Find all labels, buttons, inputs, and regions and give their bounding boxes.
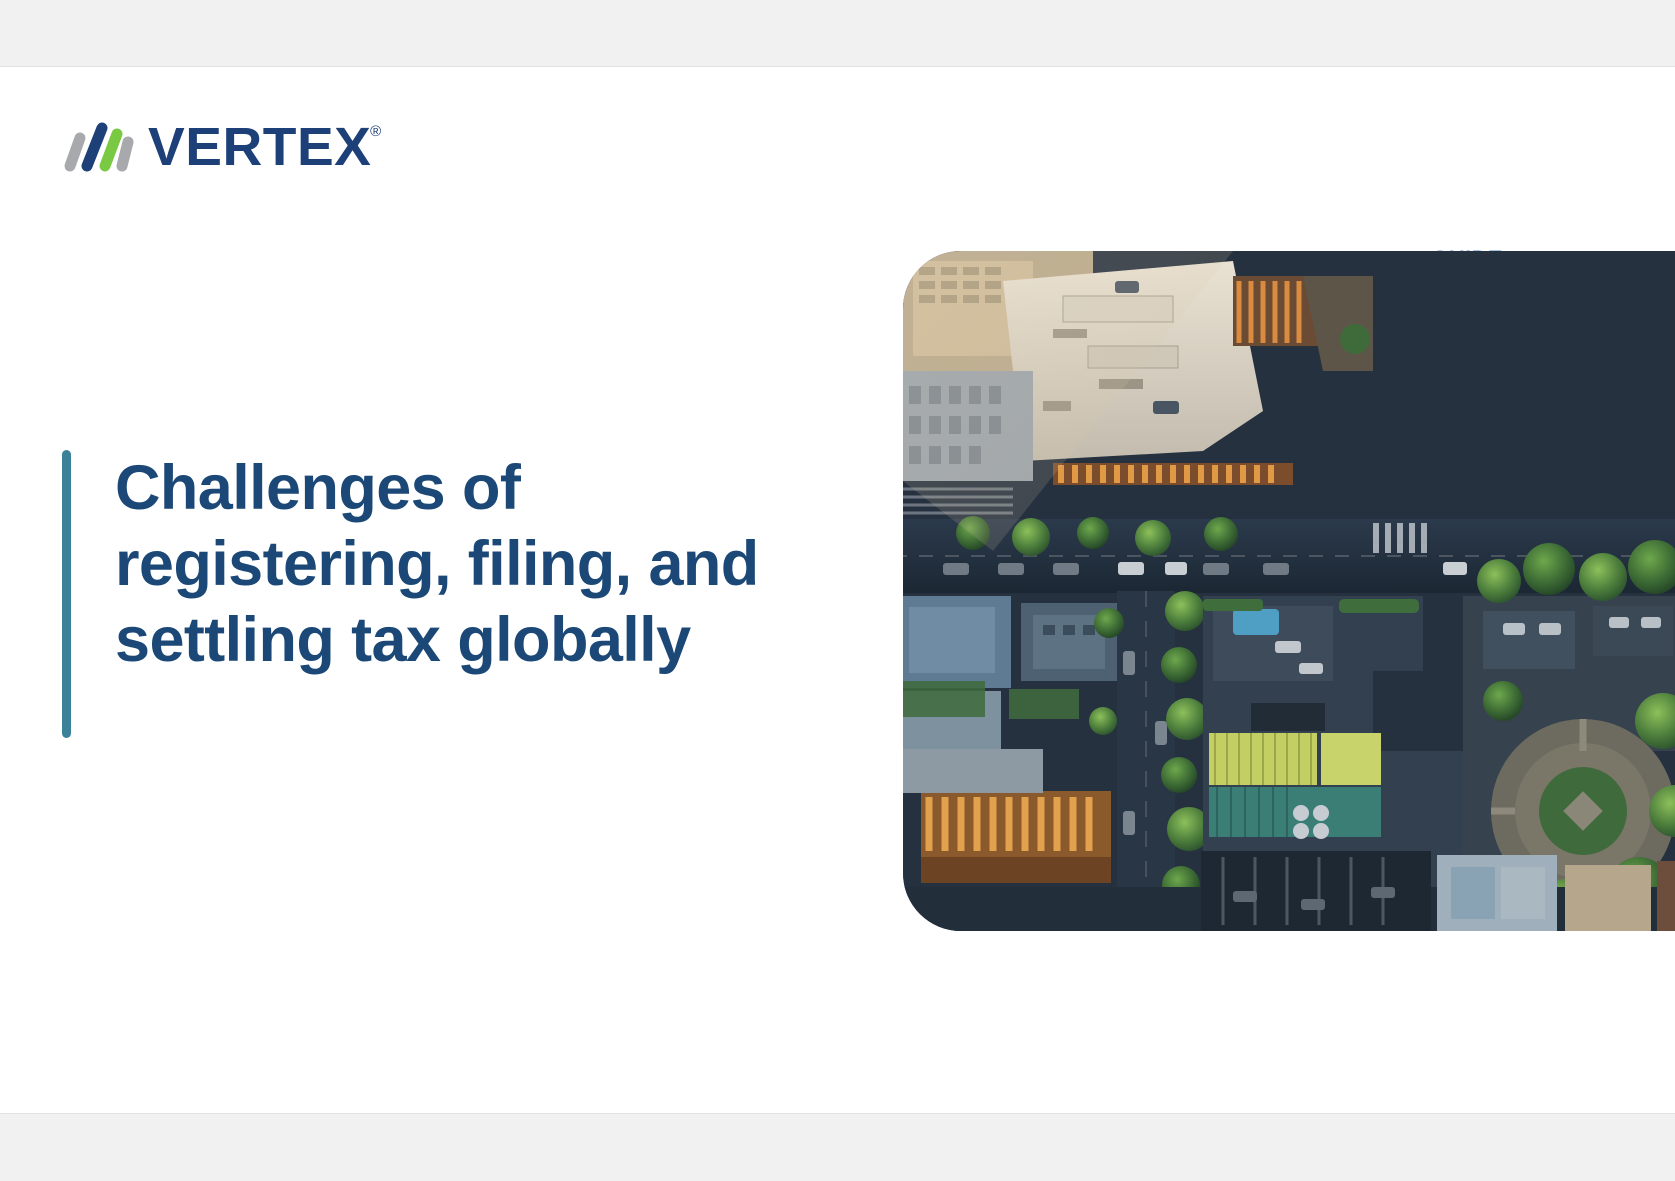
vertex-chevron-bars-logo-icon (60, 120, 134, 174)
headline-block: Challenges of registering, filing, and s… (62, 450, 759, 738)
page-title: Challenges of registering, filing, and s… (115, 450, 759, 738)
vertex-wordmark-text: VERTEX (148, 120, 371, 174)
viewer-top-band (0, 0, 1675, 67)
viewer-bottom-band (0, 1113, 1675, 1181)
accent-bar (62, 450, 71, 738)
registered-trademark-symbol: ® (370, 122, 381, 142)
document-page: VERTEX ® eGUIDE Challenges of registerin… (0, 67, 1675, 1113)
hero-image (903, 251, 1675, 931)
vertex-wordmark: VERTEX ® (148, 120, 381, 174)
vertex-logo: VERTEX ® (60, 115, 381, 179)
